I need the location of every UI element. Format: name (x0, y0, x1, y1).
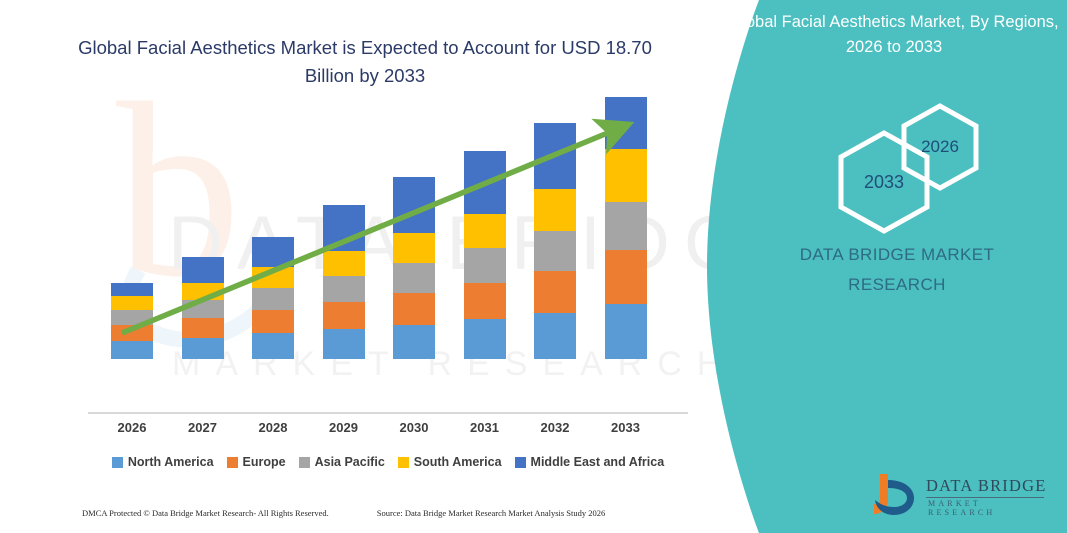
legend-item-europe[interactable]: Europe (227, 455, 286, 469)
legend-label: South America (414, 455, 502, 469)
data-bridge-logo: DATA BRIDGE MARKET RESEARCH (868, 470, 1048, 520)
legend-swatch-icon (227, 457, 238, 468)
legend-label: Asia Pacific (315, 455, 385, 469)
hexagon-2026-label: 2026 (921, 137, 959, 157)
legend-label: Europe (243, 455, 286, 469)
legend-item-south-america[interactable]: South America (398, 455, 502, 469)
right-panel-title: Global Facial Aesthetics Market, By Regi… (729, 10, 1059, 60)
brand-line-1: DATA BRIDGE MARKET (747, 240, 1047, 270)
stacked-bar-chart: 20262027202820292030203120322033 North A… (0, 0, 720, 480)
legend-swatch-icon (112, 457, 123, 468)
logo-subtitle: MARKET RESEARCH (928, 499, 1048, 517)
legend-swatch-icon (398, 457, 409, 468)
footer-dmca-text: DMCA Protected © Data Bridge Market Rese… (82, 508, 329, 518)
legend-label: North America (128, 455, 214, 469)
hexagon-2033-label: 2033 (864, 172, 904, 193)
legend-item-asia-pacific[interactable]: Asia Pacific (299, 455, 385, 469)
legend-swatch-icon (299, 457, 310, 468)
brand-name-right-panel: DATA BRIDGE MARKET RESEARCH (747, 240, 1047, 300)
footer-source-text: Source: Data Bridge Market Research Mark… (377, 508, 606, 518)
hexagon-2026: 2026 (901, 103, 979, 191)
brand-line-2: RESEARCH (747, 270, 1047, 300)
infographic-root: b DATA BRIDGE MARKET RESEARCH Global Fac… (0, 0, 1067, 533)
data-bridge-logo-mark-icon (868, 470, 920, 518)
logo-divider (926, 497, 1044, 498)
legend-item-north-america[interactable]: North America (112, 455, 214, 469)
growth-arrow-icon (0, 0, 720, 480)
legend-item-middle-east-and-africa[interactable]: Middle East and Africa (515, 455, 665, 469)
legend-swatch-icon (515, 457, 526, 468)
chart-legend: North AmericaEuropeAsia PacificSouth Ame… (88, 455, 688, 469)
logo-title: DATA BRIDGE (926, 476, 1047, 496)
footer: DMCA Protected © Data Bridge Market Rese… (0, 508, 720, 518)
legend-label: Middle East and Africa (531, 455, 665, 469)
